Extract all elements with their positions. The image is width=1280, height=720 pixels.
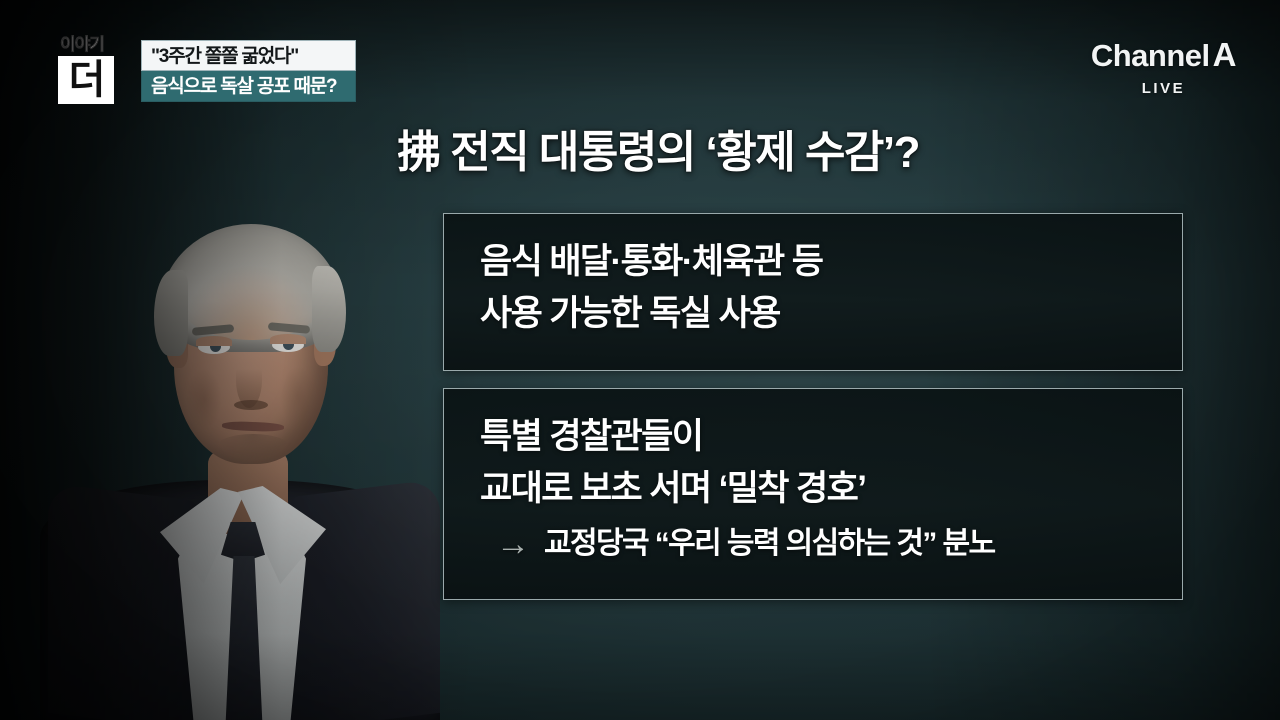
program-logo-subtitle: 이야기 bbox=[58, 36, 136, 53]
info-followup-text: 교정당국 “우리 능력 의심하는 것” 분노 bbox=[544, 521, 994, 567]
topic-banner-group: "3주간 쫄쫄 굶었다" 음식으로 독살 공포 때문? bbox=[141, 40, 356, 102]
page-title: 拂 전직 대통령의 ‘황제 수감’? bbox=[0, 116, 1280, 180]
info-line: 특별 경찰관들이 bbox=[480, 411, 1182, 463]
info-box-detention-conditions: 음식 배달·통화·체육관 등 사용 가능한 독실 사용 bbox=[443, 213, 1183, 371]
info-line: 교대로 보초 서며 ‘밀착 경호’ bbox=[480, 463, 1182, 515]
subject-photo bbox=[40, 150, 440, 720]
live-badge: LIVE bbox=[1091, 80, 1236, 97]
program-logo: 이야기 더 bbox=[58, 36, 136, 108]
right-arrow-icon: → bbox=[496, 527, 530, 561]
info-line: 음식 배달·통화·체육관 등 bbox=[480, 236, 1182, 288]
info-followup-row: → 교정당국 “우리 능력 의심하는 것” 분노 bbox=[496, 521, 1182, 567]
channel-bug: ChannelA LIVE bbox=[1091, 38, 1236, 97]
channel-name-text: Channel bbox=[1091, 38, 1210, 73]
info-line: 사용 가능한 독실 사용 bbox=[480, 288, 1182, 340]
channel-a-icon: A bbox=[1213, 36, 1236, 73]
channel-name: ChannelA bbox=[1091, 38, 1236, 73]
broadcast-screen: 이야기 더 "3주간 쫄쫄 굶었다" 음식으로 독살 공포 때문? Channe… bbox=[0, 0, 1280, 720]
topic-banner-subtitle: 음식으로 독살 공포 때문? bbox=[141, 71, 356, 102]
topic-banner-quote: "3주간 쫄쫄 굶었다" bbox=[141, 40, 356, 71]
program-logo-mark: 더 bbox=[58, 56, 114, 104]
info-box-security-detail: 특별 경찰관들이 교대로 보초 서며 ‘밀착 경호’ → 교정당국 “우리 능력… bbox=[443, 388, 1183, 600]
